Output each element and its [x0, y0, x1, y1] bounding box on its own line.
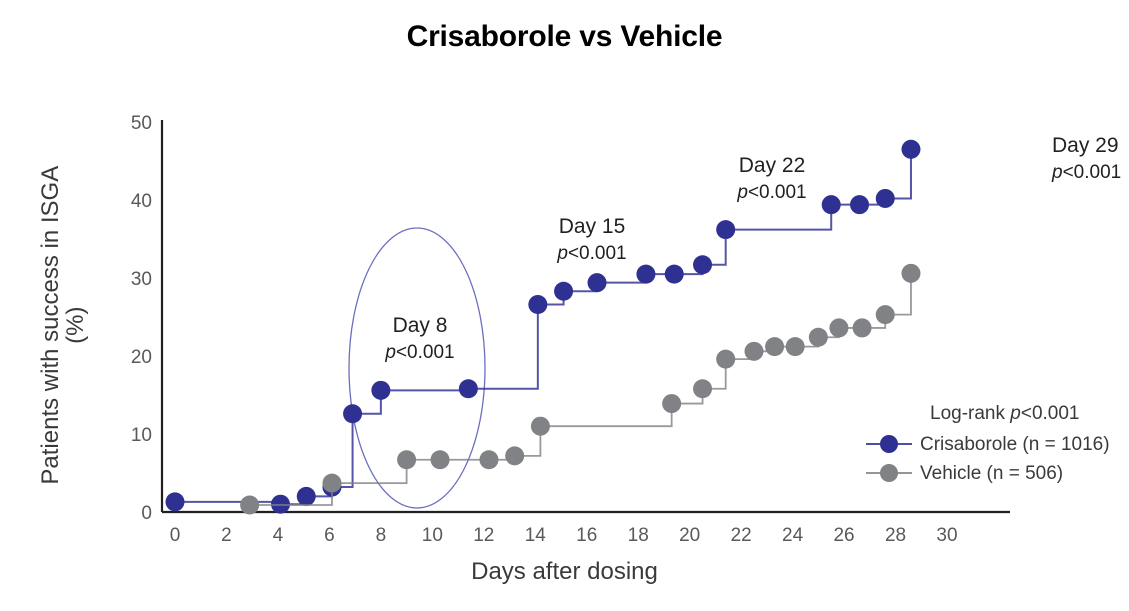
data-point	[693, 255, 712, 274]
x-tick-12: 12	[473, 525, 494, 546]
data-point	[901, 264, 920, 283]
annotation-label: Day 15	[559, 215, 626, 238]
legend-label: Crisaborole (n = 1016)	[920, 434, 1110, 455]
data-point	[397, 450, 416, 469]
data-point	[431, 450, 450, 469]
legend-layer: Log-rank p<0.001Crisaborole (n = 1016)Ve…	[866, 403, 1110, 484]
data-point	[876, 189, 895, 208]
legend-item-vehicle[interactable]: Vehicle (n = 506)	[866, 463, 1063, 484]
x-tick-10: 10	[422, 525, 443, 546]
data-point	[459, 379, 478, 398]
data-point	[554, 282, 573, 301]
y-tick-0: 0	[141, 503, 152, 524]
annotation-label: Day 29	[1052, 134, 1119, 157]
data-point	[371, 381, 390, 400]
annotation-pvalue: p<0.001	[1051, 162, 1121, 183]
x-tick-26: 26	[833, 525, 854, 546]
data-point	[809, 328, 828, 347]
data-point	[765, 337, 784, 356]
data-point	[901, 140, 920, 159]
data-point	[322, 474, 341, 493]
annotation-day29: Day 29p<0.001	[1051, 134, 1121, 183]
data-point	[505, 446, 524, 465]
annotation-pvalue: p<0.001	[736, 182, 806, 203]
data-point	[297, 487, 316, 506]
y-tick-50: 50	[131, 113, 152, 134]
x-tick-30: 30	[936, 525, 957, 546]
x-tick-4: 4	[273, 525, 284, 546]
annotation-day8: Day 8p<0.001	[384, 314, 454, 363]
data-point	[240, 495, 259, 514]
series-layer	[166, 140, 921, 515]
legend-marker	[880, 464, 898, 482]
legend-marker	[880, 435, 898, 453]
legend-label: Vehicle (n = 506)	[920, 463, 1063, 484]
annotation-pvalue: p<0.001	[556, 243, 626, 264]
data-point	[665, 265, 684, 284]
annotation-day22: Day 22p<0.001	[736, 154, 806, 203]
data-point	[528, 295, 547, 314]
series-line	[250, 273, 911, 505]
plot-area: 01020304050 024681012141618202224262830 …	[0, 0, 1129, 611]
x-tick-labels: 024681012141618202224262830	[170, 525, 958, 546]
data-point	[693, 379, 712, 398]
x-tick-16: 16	[576, 525, 597, 546]
x-tick-28: 28	[885, 525, 906, 546]
y-tick-20: 20	[131, 347, 152, 368]
annotation-label: Day 8	[393, 314, 448, 337]
legend-logrank-note: Log-rank p<0.001	[930, 403, 1080, 424]
x-tick-14: 14	[525, 525, 547, 546]
series-vehicle	[240, 264, 920, 515]
y-tick-labels: 01020304050	[131, 113, 152, 524]
data-point	[479, 450, 498, 469]
data-point	[343, 404, 362, 423]
x-tick-18: 18	[628, 525, 649, 546]
y-tick-10: 10	[131, 425, 152, 446]
annotation-label: Day 22	[739, 154, 806, 177]
data-point	[166, 492, 185, 511]
x-tick-22: 22	[731, 525, 752, 546]
x-tick-8: 8	[376, 525, 387, 546]
data-point	[822, 195, 841, 214]
data-point	[716, 350, 735, 369]
x-tick-0: 0	[170, 525, 181, 546]
chart-container: Crisaborole vs Vehicle Patients with suc…	[0, 0, 1129, 611]
x-tick-20: 20	[679, 525, 700, 546]
x-tick-24: 24	[782, 525, 804, 546]
annotation-layer: Day 8p<0.001Day 15p<0.001Day 22p<0.001Da…	[384, 134, 1121, 363]
data-point	[588, 273, 607, 292]
data-point	[662, 394, 681, 413]
y-tick-40: 40	[131, 191, 152, 212]
data-point	[829, 318, 848, 337]
data-point	[745, 342, 764, 361]
day8-highlight-ellipse	[349, 228, 485, 508]
y-tick-30: 30	[131, 269, 152, 290]
data-point	[786, 337, 805, 356]
x-tick-2: 2	[221, 525, 232, 546]
data-point	[853, 318, 872, 337]
data-point	[716, 220, 735, 239]
annotation-day15: Day 15p<0.001	[556, 215, 626, 264]
data-point	[850, 195, 869, 214]
data-point	[531, 417, 550, 436]
data-point	[636, 265, 655, 284]
x-tick-6: 6	[324, 525, 335, 546]
data-point	[876, 305, 895, 324]
annotation-pvalue: p<0.001	[384, 342, 454, 363]
series-crisaborole	[166, 140, 921, 514]
legend-item-crisaborole[interactable]: Crisaborole (n = 1016)	[866, 434, 1110, 455]
